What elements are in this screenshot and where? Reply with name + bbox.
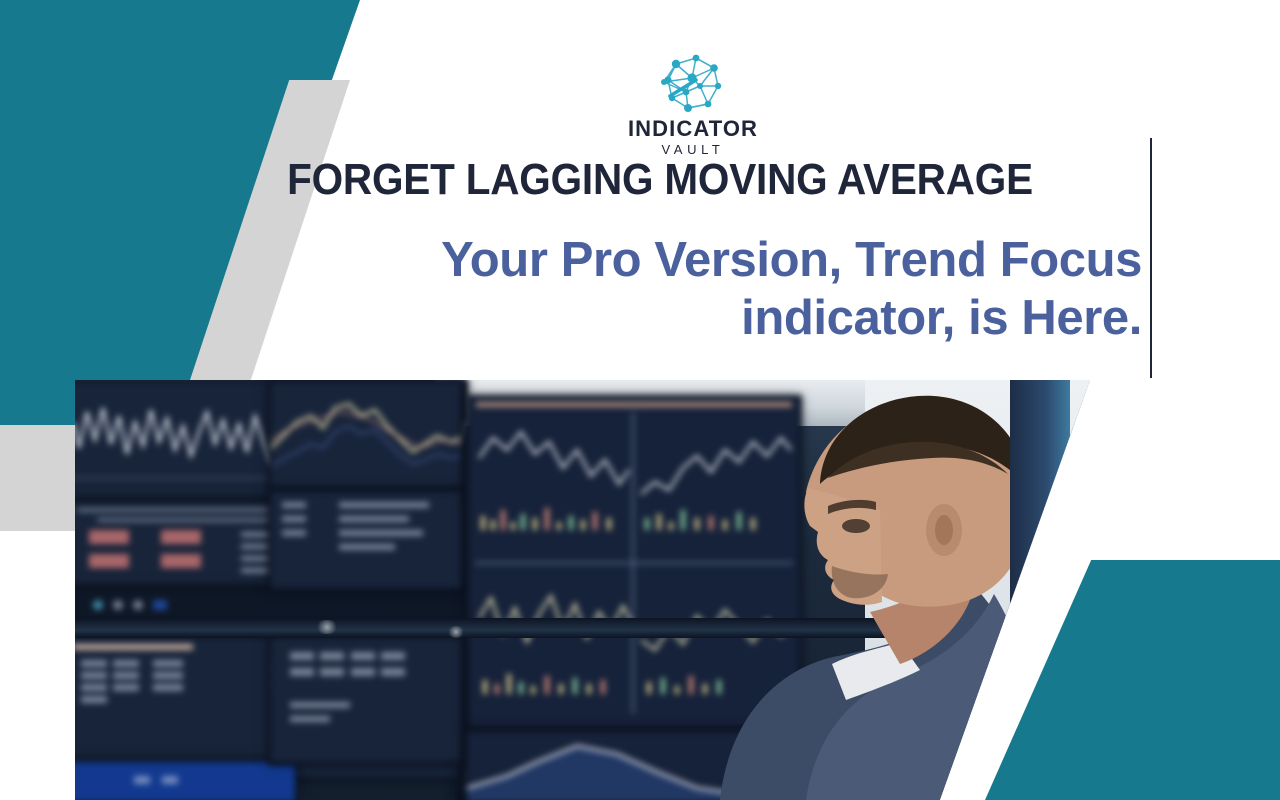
page-subtitle-line-2: indicator, is Here. [180, 290, 1142, 348]
trading-desk-photo [75, 380, 1090, 800]
monitor-screen [271, 638, 461, 762]
vertical-divider-line [1150, 138, 1152, 378]
grey-square-bottom-left [0, 425, 80, 531]
brand-logo[interactable]: INDICATOR VAULT [598, 52, 788, 156]
monitor-taskbar [75, 590, 465, 620]
promo-banner: INDICATOR VAULT FORGET LAGGING MOVING AV… [0, 0, 1280, 800]
network-nodes-brain-icon [656, 52, 730, 116]
monitor-dialog [75, 762, 295, 800]
page-subtitle: Your Pro Version, Trend Focus indicator,… [180, 232, 1142, 348]
page-title: FORGET LAGGING MOVING AVERAGE [218, 158, 1101, 203]
monitor-screen [271, 382, 461, 488]
monitor-screen [271, 492, 461, 588]
light-reflection [447, 626, 465, 638]
brand-name: INDICATOR [598, 118, 788, 140]
light-reflection [315, 620, 339, 634]
teal-diagonal-panel-bottom-right [985, 560, 1280, 800]
page-subtitle-line-1: Your Pro Version, Trend Focus [180, 232, 1142, 290]
